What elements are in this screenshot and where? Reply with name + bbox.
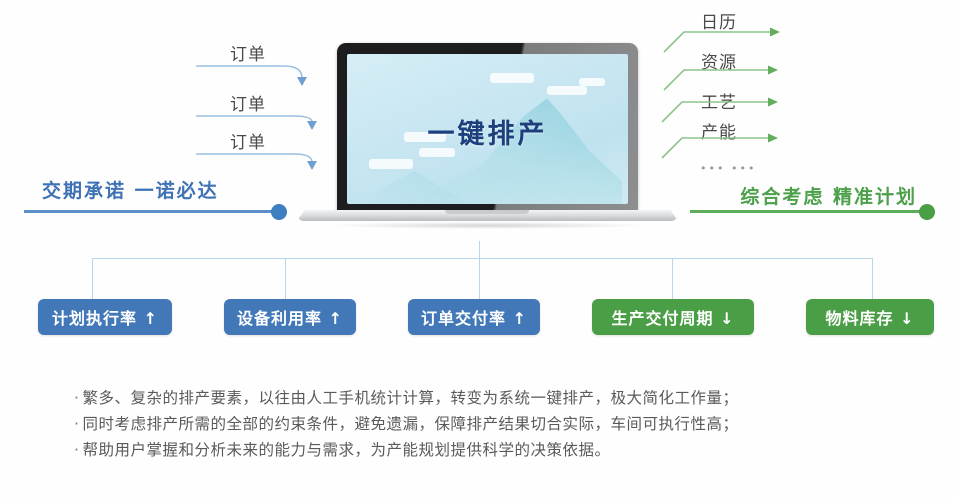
description-bullet: ·同时考虑排产所需的全部的约束条件，避免遗漏，保障排产结果切合实际，车间可执行性…: [74, 411, 904, 437]
resource-label: 工艺: [701, 88, 737, 113]
tree-horizontal-bar: [92, 258, 872, 259]
order-arrow-head: [297, 77, 307, 86]
resource-label: 资源: [701, 48, 737, 73]
left-headline: 交期承诺 一诺必达: [42, 176, 219, 203]
kpi-box-label: 计划执行率 ↑: [52, 305, 158, 329]
right-rail: [690, 210, 925, 213]
screen-cloud-blob: [547, 86, 587, 95]
bullet-marker: ·: [74, 441, 79, 459]
description-bullet: ·繁多、复杂的排产要素，以往由人工手机统计计算，转变为系统一键排产，极大简化工作…: [74, 385, 904, 411]
kpi-box[interactable]: 物料库存 ↓: [806, 299, 934, 335]
resource-arrow-head: [768, 66, 778, 75]
kpi-box-label: 物料库存 ↓: [826, 305, 915, 329]
resource-arrow-head: [770, 28, 780, 37]
laptop-screen: 一键排产: [347, 54, 628, 204]
laptop-shadow: [330, 222, 645, 229]
order-arrow-line: [196, 116, 312, 122]
slide-canvas: 订单订单订单 交期承诺 一诺必达 一键排产 日历资源工艺产能 ••• ••• 综…: [0, 0, 959, 498]
left-rail-endpoint-dot: [271, 204, 287, 220]
order-label: 订单: [230, 40, 266, 65]
left-rail: [24, 210, 280, 213]
tree-stem-down: [285, 258, 286, 299]
tree-stem-down: [672, 258, 673, 299]
bullet-text: 同时考虑排产所需的全部的约束条件，避免遗漏，保障排产结果切合实际，车间可执行性高…: [82, 415, 738, 433]
description-bullet-list: ·繁多、复杂的排产要素，以往由人工手机统计计算，转变为系统一键排产，极大简化工作…: [74, 385, 904, 463]
order-arrow-line: [196, 154, 312, 162]
laptop-base-notch: [445, 210, 529, 214]
screen-title: 一键排产: [347, 112, 628, 151]
laptop-bezel: 一键排产: [337, 43, 638, 213]
screen-cloud-blob: [490, 73, 534, 83]
tree-stem-down: [872, 258, 873, 299]
kpi-box-label: 订单交付率 ↑: [421, 305, 527, 329]
description-bullet: ·帮助用户掌握和分析未来的能力与需求，为产能规划提供科学的决策依据。: [74, 437, 904, 463]
right-headline: 综合考虑 精准计划: [740, 182, 917, 209]
bullet-text: 繁多、复杂的排产要素，以往由人工手机统计计算，转变为系统一键排产，极大简化工作量…: [82, 389, 738, 407]
kpi-box-label: 生产交付周期 ↓: [612, 305, 735, 329]
order-arrow-line: [196, 66, 302, 78]
screen-cloud-blob: [579, 78, 605, 86]
kpi-box[interactable]: 计划执行率 ↑: [38, 299, 172, 335]
right-rail-endpoint-dot: [919, 204, 935, 220]
resource-arrow-head: [768, 134, 778, 143]
resource-arrow-head: [768, 98, 778, 107]
kpi-box[interactable]: 生产交付周期 ↓: [592, 299, 754, 335]
order-arrow-head: [307, 121, 317, 130]
order-label: 订单: [230, 90, 266, 115]
ellipsis-indicator: ••• •••: [700, 162, 756, 175]
bullet-marker: ·: [74, 389, 79, 407]
bullet-marker: ·: [74, 415, 79, 433]
kpi-box-label: 设备利用率 ↑: [237, 305, 343, 329]
resource-arrow-line: [664, 70, 769, 90]
tree-stem-down: [479, 258, 480, 299]
kpi-box[interactable]: 设备利用率 ↑: [224, 299, 356, 335]
screen-cloud-blob: [369, 159, 413, 169]
order-arrow-head: [307, 161, 317, 170]
bullet-text: 帮助用户掌握和分析未来的能力与需求，为产能规划提供科学的决策依据。: [82, 441, 610, 459]
kpi-box[interactable]: 订单交付率 ↑: [408, 299, 540, 335]
tree-stem-up: [479, 241, 480, 259]
order-label: 订单: [230, 128, 266, 153]
resource-label: 产能: [701, 118, 737, 143]
tree-stem-down: [92, 258, 93, 299]
resource-label: 日历: [701, 8, 737, 33]
